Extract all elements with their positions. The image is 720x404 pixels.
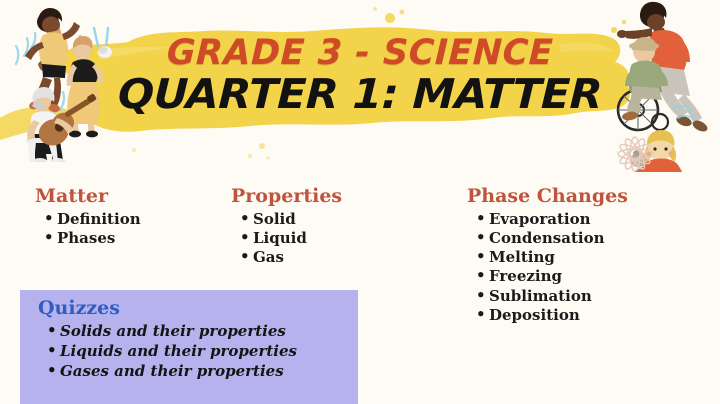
list-properties: Solid Liquid Gas	[231, 210, 342, 268]
column-heading-phase-changes: Phase Changes	[467, 186, 628, 208]
list-item: Liquids and their properties	[60, 342, 297, 362]
list-item: Gases and their properties	[60, 362, 297, 382]
column-heading-properties: Properties	[231, 186, 342, 208]
list-item: Solids and their properties	[60, 322, 297, 342]
column-heading-matter: Matter	[35, 186, 141, 208]
list-item: Liquid	[253, 229, 342, 248]
list-item: Sublimation	[489, 287, 628, 306]
list-item: Definition	[57, 210, 141, 229]
quizzes-heading: Quizzes	[38, 298, 120, 320]
left-illustration	[2, 2, 142, 162]
list-item: Phases	[57, 229, 141, 248]
list-item: Deposition	[489, 306, 628, 325]
list-matter: Definition Phases	[35, 210, 141, 248]
list-item: Gas	[253, 248, 342, 267]
list-item: Solid	[253, 210, 342, 229]
column-matter: Matter Definition Phases	[35, 186, 141, 248]
list-item: Condensation	[489, 229, 628, 248]
list-item: Freezing	[489, 267, 628, 286]
list-item: Melting	[489, 248, 628, 267]
quizzes-panel: Quizzes Solids and their properties Liqu…	[20, 290, 358, 404]
column-properties: Properties Solid Liquid Gas	[231, 186, 342, 267]
list-item: Evaporation	[489, 210, 628, 229]
slide-canvas: GRADE 3 - SCIENCE QUARTER 1: MATTER	[0, 0, 720, 404]
daisy-outline-decoration	[592, 120, 678, 182]
guitar-player-figure	[26, 87, 107, 162]
column-phase-changes: Phase Changes Evaporation Condensation M…	[467, 186, 628, 325]
list-phase-changes: Evaporation Condensation Melting Freezin…	[467, 210, 628, 325]
quizzes-list: Solids and their properties Liquids and …	[60, 322, 297, 381]
